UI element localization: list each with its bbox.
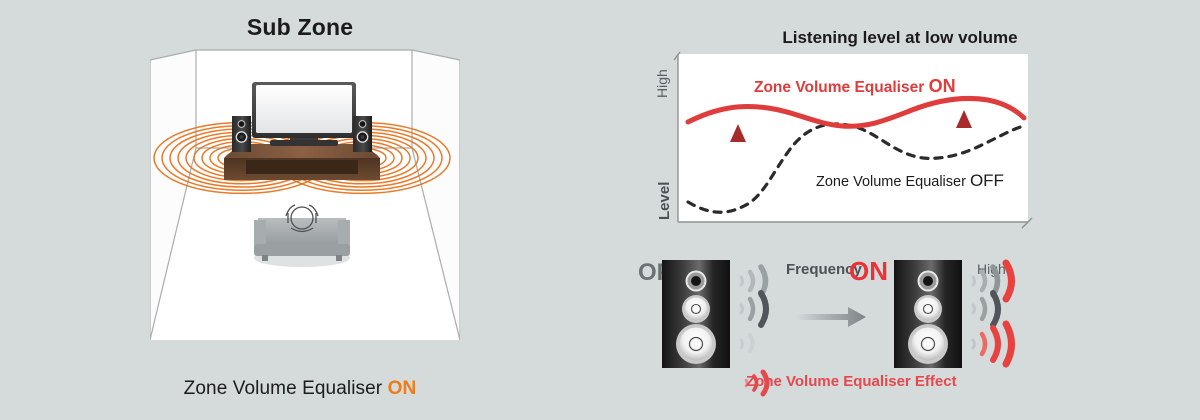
wave-on-woofer [973,324,1012,364]
room-speaker-left [232,116,251,152]
zone-caption-state: ON [388,378,417,399]
legend-on-state: ON [929,76,956,96]
y-axis-tick-high: High [654,69,670,98]
wave-off-woofer [741,335,753,351]
legend-on-prefix: Zone Volume Equaliser [754,79,929,96]
equaliser-explainer-panel: Listening level at low volume [600,0,1200,420]
page-title: Sub Zone [0,14,600,41]
flat-screen-tv [252,82,356,146]
comparison-canvas [600,245,1200,420]
speaker-comparison: OFF ON [600,245,1200,420]
speaker-off [662,260,730,368]
speaker-on [894,260,962,368]
infographic-root: Sub Zone [0,0,1200,420]
legend-equaliser-on: Zone Volume Equaliser ON [754,76,956,97]
chart-title: Listening level at low volume [620,28,1180,48]
effect-legend-label: Zone Volume Equaliser Effect [746,373,957,390]
y-axis-label: Level [656,182,673,220]
sub-zone-panel: Sub Zone [0,0,600,420]
wave-off-mid [741,293,766,325]
wave-on-mid [973,293,998,325]
zone-caption-prefix: Zone Volume Equaliser [184,378,388,399]
legend-equaliser-off: Zone Volume Equaliser OFF [816,171,1004,191]
legend-off-state: OFF [970,171,1004,190]
level-frequency-chart: Zone Volume Equaliser ON Zone Volume Equ… [620,48,1200,238]
room-diagram [150,40,460,360]
legend-off-prefix: Zone Volume Equaliser [816,174,970,190]
room-speaker-right [353,116,372,152]
transition-arrow [796,307,866,327]
zone-state-caption: Zone Volume Equaliser ON [0,378,600,400]
